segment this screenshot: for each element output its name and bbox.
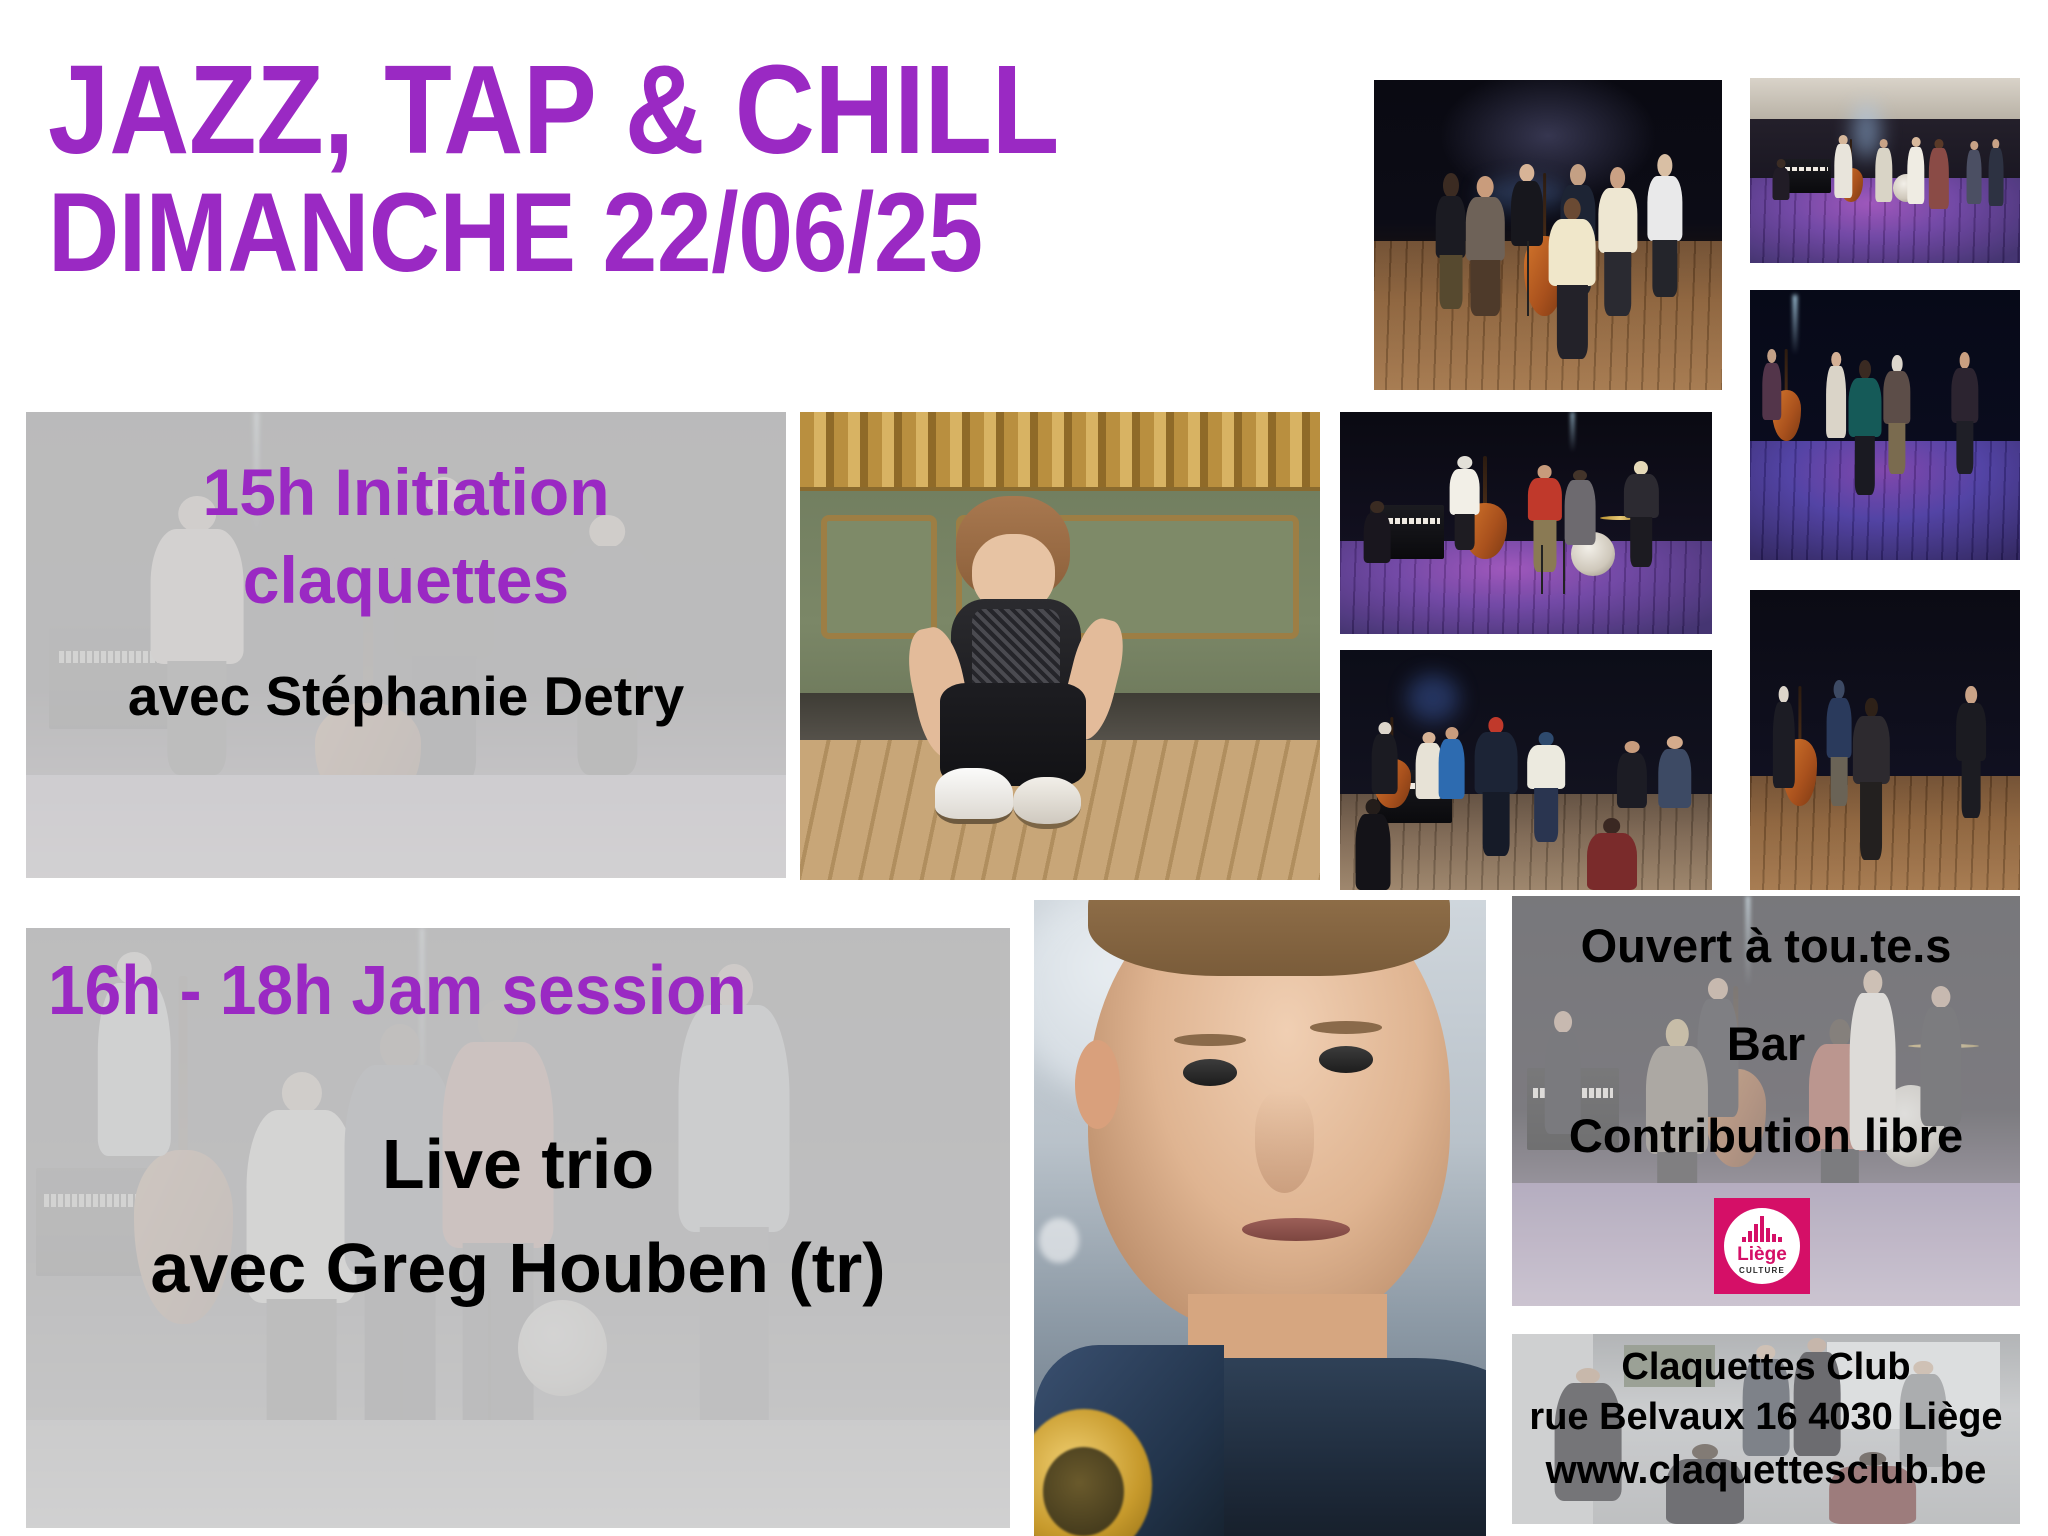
jam-line-2: avec Greg Houben (tr) xyxy=(26,1228,1010,1308)
workshop-panel: 15h Initiation claquettes avec Stéphanie… xyxy=(26,412,786,878)
photo-tap-jam-stage-wide xyxy=(1374,80,1722,390)
liege-culture-logo: Liège CULTURE xyxy=(1714,1198,1810,1294)
info-line-3: Contribution libre xyxy=(1512,1108,2020,1163)
info-panel: Ouvert à tou.te.s Bar Contribution libre… xyxy=(1512,896,2020,1306)
photo-greg-houben-portrait xyxy=(1034,900,1486,1536)
title-line-2: DIMANCHE 22/06/25 xyxy=(48,180,983,286)
info-line-1: Ouvert à tou.te.s xyxy=(1512,918,2020,973)
info-line-2: Bar xyxy=(1512,1016,2020,1071)
workshop-with-label: avec Stéphanie Detry xyxy=(26,664,786,728)
jam-panel: 16h - 18h Jam session Live trio avec Gre… xyxy=(26,928,1010,1528)
photo-stephanie-tying-shoes xyxy=(800,412,1320,880)
venue-website: www.claquettesclub.be xyxy=(1512,1448,2020,1493)
venue-name: Claquettes Club xyxy=(1512,1346,2020,1389)
poster-title: JAZZ, TAP & CHILL xyxy=(48,50,1197,170)
photo-stage-red-cap-dancer xyxy=(1340,650,1712,890)
poster-subtitle: DIMANCHE 22/06/25 xyxy=(48,180,1110,286)
photo-band-with-tap-dancer xyxy=(1340,412,1712,634)
photo-stage-purple-group xyxy=(1750,78,2020,263)
liege-logo-subtitle: CULTURE xyxy=(1739,1266,1785,1275)
poster-root: JAZZ, TAP & CHILL DIMANCHE 22/06/25 xyxy=(0,0,2048,1536)
bar-chart-icon xyxy=(1742,1216,1782,1242)
photo-stage-blue-dancers xyxy=(1750,290,2020,560)
workshop-time-title-2: claquettes xyxy=(26,542,786,618)
jam-line-1: Live trio xyxy=(26,1124,1010,1204)
venue-address: rue Belvaux 16 4030 Liège xyxy=(1512,1396,2020,1439)
jam-time-title: 16h - 18h Jam session xyxy=(48,950,747,1030)
workshop-time-title: 15h Initiation xyxy=(26,454,786,530)
photo-stage-solo-tap-dancer xyxy=(1750,590,2020,890)
venue-panel: Claquettes Club rue Belvaux 16 4030 Lièg… xyxy=(1512,1334,2020,1524)
title-line-1: JAZZ, TAP & CHILL xyxy=(48,50,1059,170)
liege-logo-name: Liège xyxy=(1737,1245,1787,1264)
